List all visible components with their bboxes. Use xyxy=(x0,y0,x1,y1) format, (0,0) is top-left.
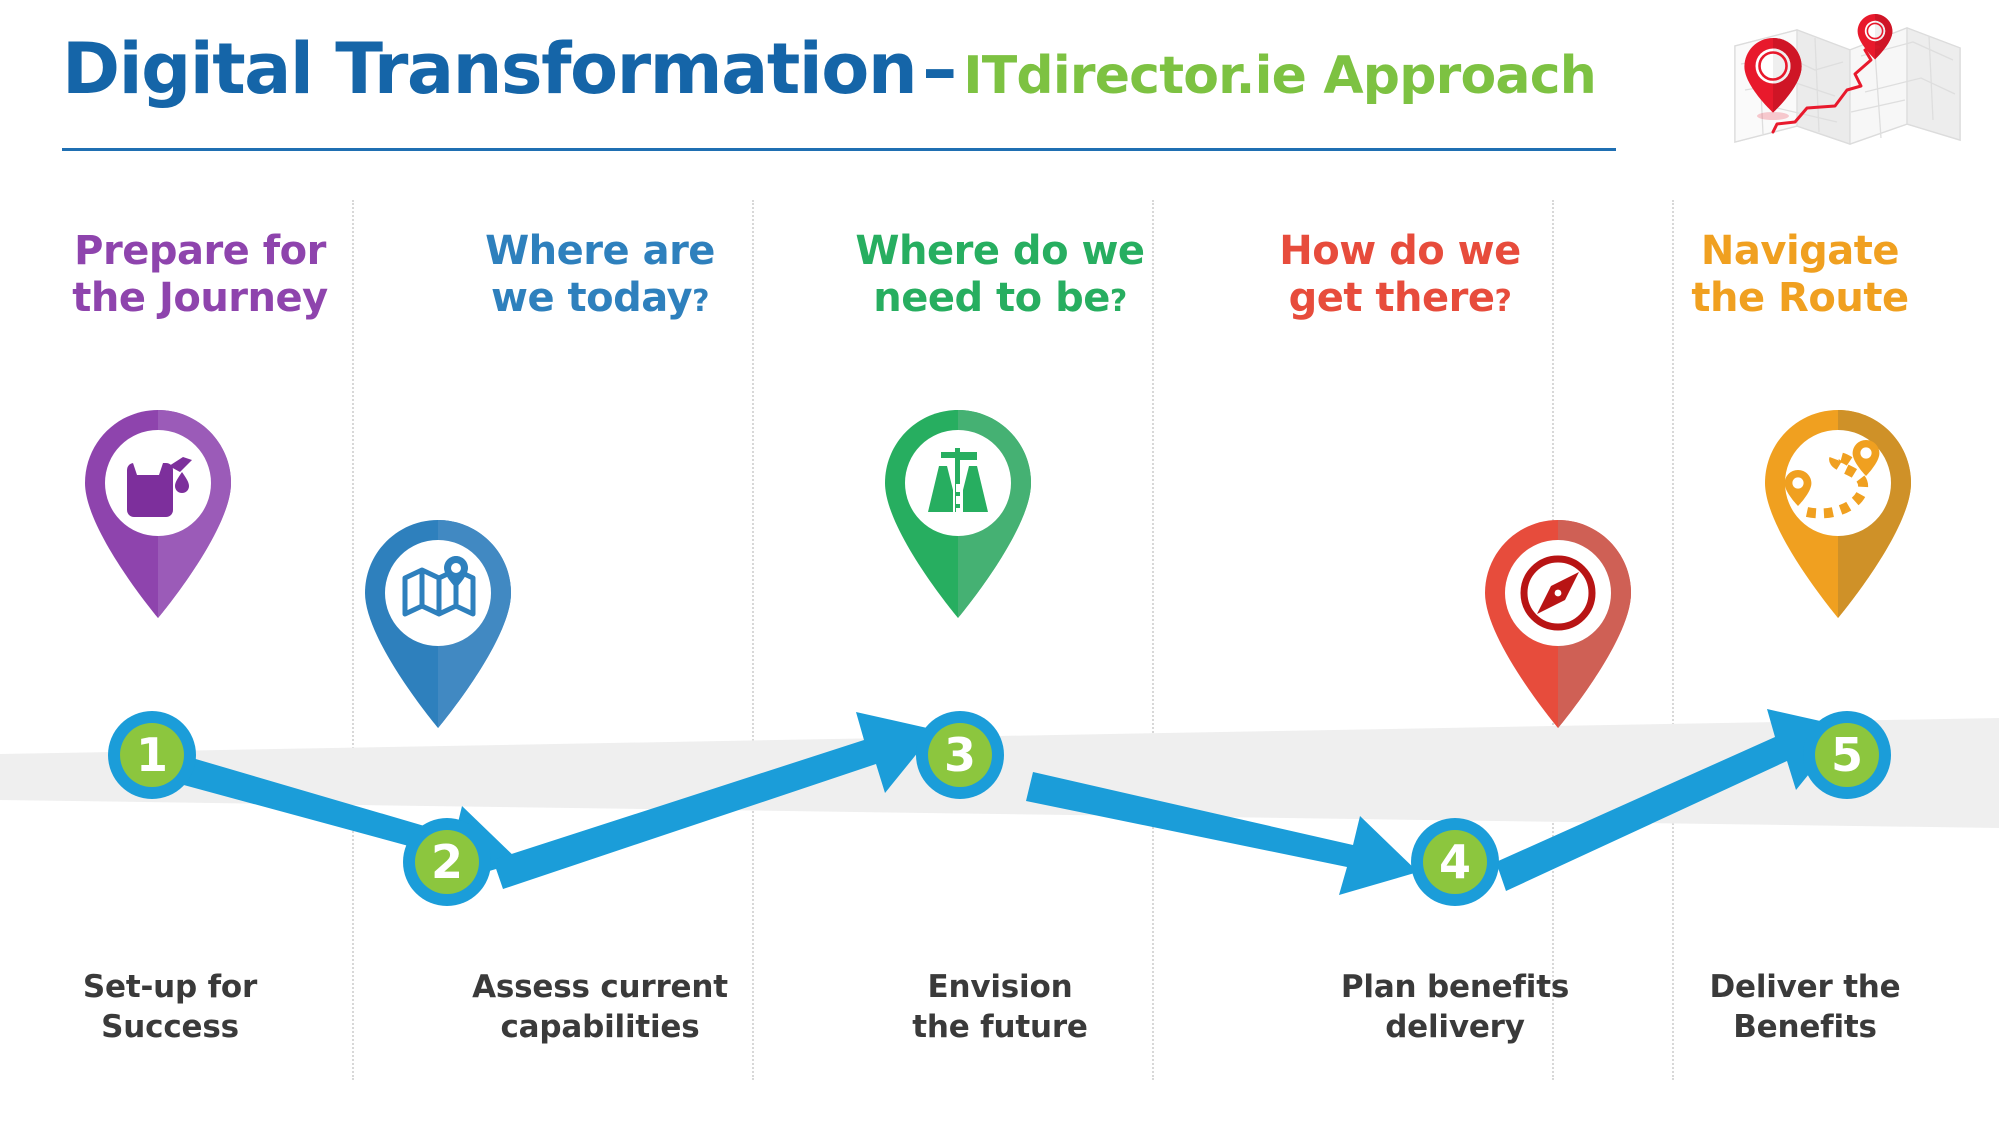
stage-caption-3: Envision the future xyxy=(800,968,1200,1047)
stage-caption-5: Deliver the Benefits xyxy=(1605,968,1999,1047)
stage-caption-3-line1: Envision xyxy=(800,968,1200,1008)
stage-caption-4: Plan benefits delivery xyxy=(1255,968,1655,1047)
stage-caption-4-line1: Plan benefits xyxy=(1255,968,1655,1008)
stage-node-3[interactable]: 3 xyxy=(916,711,1004,799)
stage-caption-1-line2: Success xyxy=(0,1008,370,1048)
stage-node-3-number: 3 xyxy=(928,723,992,787)
flow-arrows xyxy=(0,0,1999,1122)
stage-node-2-number: 2 xyxy=(415,830,479,894)
stage-node-4[interactable]: 4 xyxy=(1411,818,1499,906)
stage-caption-2-line1: Assess current xyxy=(400,968,800,1008)
stage-caption-1: Set-up for Success xyxy=(0,968,370,1047)
stage-caption-3-line2: the future xyxy=(800,1008,1200,1048)
stage-node-2[interactable]: 2 xyxy=(403,818,491,906)
stage-node-1-number: 1 xyxy=(120,723,184,787)
stage-node-5[interactable]: 5 xyxy=(1803,711,1891,799)
stage-node-5-number: 5 xyxy=(1815,723,1879,787)
stage-node-4-number: 4 xyxy=(1423,830,1487,894)
stage-caption-5-line1: Deliver the xyxy=(1605,968,1999,1008)
stage-caption-2-line2: capabilities xyxy=(400,1008,800,1048)
stage-caption-5-line2: Benefits xyxy=(1605,1008,1999,1048)
stage-caption-2: Assess current capabilities xyxy=(400,968,800,1047)
stage-node-1[interactable]: 1 xyxy=(108,711,196,799)
stage-caption-1-line1: Set-up for xyxy=(0,968,370,1008)
infographic-slide: Digital Transformation–ITdirector.ie App… xyxy=(0,0,1999,1122)
stage-caption-4-line2: delivery xyxy=(1255,1008,1655,1048)
